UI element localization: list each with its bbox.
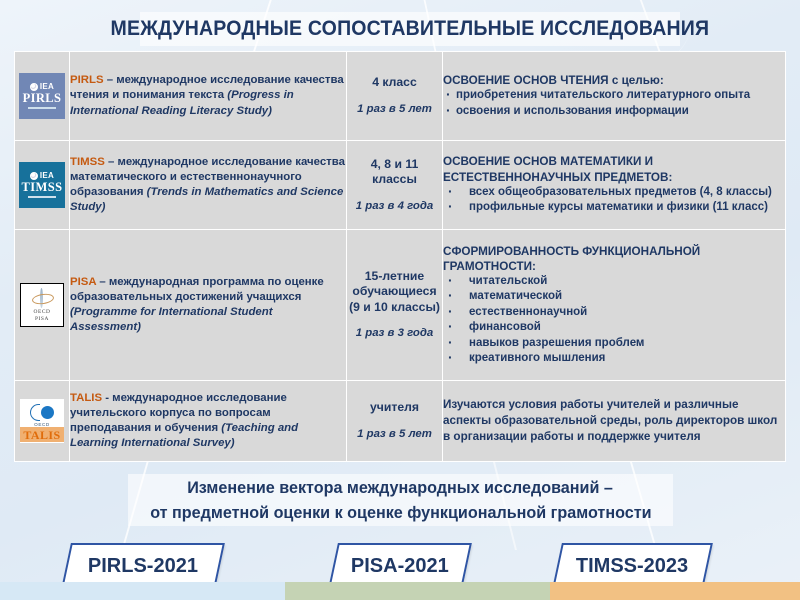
- talis-logo-icon: OECD TALIS: [20, 399, 64, 443]
- study-acronym: PIRLS: [70, 74, 104, 86]
- row-goal-cell: ОСВОЕНИЕ ОСНОВ МАТЕМАТИКИ И ЕСТЕСТВЕННОН…: [443, 141, 786, 230]
- bottom-colour-strip: [0, 582, 800, 600]
- study-description: PIRLS – международное исследование качес…: [70, 73, 346, 119]
- goal-list-item: навыков разрешения проблем: [443, 336, 785, 351]
- study-description-ru: – международное исследование качества чт…: [70, 74, 344, 101]
- chip-label: PISA-2021: [351, 555, 449, 578]
- study-description: TALIS - международное исследование учите…: [70, 391, 346, 452]
- logo-name: PIRLS: [23, 92, 62, 105]
- row-goal-cell: СФОРМИРОВАННОСТЬ ФУНКЦИОНАЛЬНОЙ ГРАМОТНО…: [443, 230, 786, 381]
- goal-list-item: профильные курсы математики и физики (11…: [443, 200, 785, 215]
- oecd-compass-icon: [32, 288, 52, 308]
- logo-name: TIMSS: [22, 181, 63, 194]
- conclusion-banner: Изменение вектора международных исследов…: [128, 474, 673, 526]
- study-acronym: TALIS: [70, 392, 102, 404]
- target-grade: 4, 8 и 11 классы: [347, 157, 442, 188]
- row-description-cell: PIRLS – международное исследование качес…: [70, 52, 347, 141]
- row-logo-cell: IEA PIRLS: [15, 52, 70, 141]
- logo-name: OECDPISA: [33, 309, 50, 321]
- row-goal-cell: Изучаются условия работы учителей и разл…: [443, 381, 786, 462]
- timss-logo-icon: IEA TIMSS: [19, 162, 65, 208]
- pirls-logo-icon: IEA PIRLS: [19, 73, 65, 119]
- study-description: TIMSS – международное исследование качес…: [70, 155, 346, 216]
- goal-list-item: естественнонаучной: [443, 305, 785, 320]
- strip-segment-green: [285, 582, 550, 600]
- studies-table-body: IEA PIRLS PIRLS – международное исследов…: [15, 52, 786, 462]
- iea-label: IEA: [40, 83, 54, 91]
- row-grade-cell: 4, 8 и 11 классы 1 раз в 4 года: [347, 141, 443, 230]
- row-description-cell: PISA – международная программа по оценке…: [70, 230, 347, 381]
- row-grade-cell: 4 класс 1 раз в 5 лет: [347, 52, 443, 141]
- study-description: PISA – международная программа по оценке…: [70, 275, 346, 336]
- table-row: IEA PIRLS PIRLS – международное исследов…: [15, 52, 786, 141]
- iea-mark: IEA: [30, 83, 54, 91]
- study-frequency: 1 раз в 3 года: [347, 326, 442, 341]
- iea-label: IEA: [40, 172, 54, 180]
- goal-list-item: освоения и использования информации: [443, 104, 785, 119]
- conclusion-line-2: от предметной оценки к оценке функционал…: [150, 500, 651, 525]
- strip-segment-orange: [550, 582, 800, 600]
- study-frequency: 1 раз в 5 лет: [347, 102, 442, 117]
- globe-icon: [30, 83, 38, 91]
- goal-heading: СФОРМИРОВАННОСТЬ ФУНКЦИОНАЛЬНОЙ ГРАМОТНО…: [443, 244, 785, 274]
- goal-list-item: математической: [443, 289, 785, 304]
- arc-icon: [30, 404, 40, 421]
- study-acronym: TIMSS: [70, 156, 105, 168]
- logo-rule: [28, 196, 56, 198]
- study-frequency: 1 раз в 4 года: [347, 199, 442, 214]
- studies-table: IEA PIRLS PIRLS – международное исследов…: [14, 51, 786, 462]
- table-row: OECD TALIS TALIS - международное исследо…: [15, 381, 786, 462]
- logo-rule: [28, 107, 56, 109]
- row-logo-cell: OECDPISA: [15, 230, 70, 381]
- row-grade-cell: 15-летние обучающиеся (9 и 10 классы) 1 …: [347, 230, 443, 381]
- row-description-cell: TIMSS – международное исследование качес…: [70, 141, 347, 230]
- goal-list-item: финансовой: [443, 320, 785, 335]
- logo-name: TALIS: [23, 429, 60, 441]
- slide-title: МЕЖДУНАРОДНЫЕ СОПОСТАВИТЕЛЬНЫЕ ИССЛЕДОВА…: [111, 17, 710, 41]
- row-logo-cell: IEA TIMSS: [15, 141, 70, 230]
- iea-mark: IEA: [30, 172, 54, 180]
- goal-list-item: всех общеобразовательных предметов (4, 8…: [443, 185, 785, 200]
- study-description-en: (Programme for International Student Ass…: [70, 306, 273, 333]
- strip-segment-blue: [0, 582, 285, 600]
- table-row: OECDPISA PISA – международная программа …: [15, 230, 786, 381]
- goal-text: Изучаются условия работы учителей и разл…: [443, 397, 785, 445]
- chip-label: TIMSS-2023: [576, 555, 688, 578]
- dot-icon: [41, 406, 54, 419]
- chip-label: PIRLS-2021: [88, 555, 198, 578]
- goal-list-item: креативного мышления: [443, 351, 785, 366]
- talis-band: TALIS: [20, 427, 64, 442]
- study-acronym: PISA: [70, 276, 96, 288]
- goal-list: приобретения читательского литературного…: [443, 88, 785, 119]
- globe-icon: [30, 172, 38, 180]
- target-grade: 4 класс: [347, 75, 442, 91]
- target-grade: 15-летние обучающиеся (9 и 10 классы): [347, 269, 442, 316]
- goal-list: читательскойматематическойестественнонау…: [443, 274, 785, 366]
- slide-title-band: МЕЖДУНАРОДНЫЕ СОПОСТАВИТЕЛЬНЫЕ ИССЛЕДОВА…: [140, 12, 680, 46]
- goal-heading: ОСВОЕНИЕ ОСНОВ МАТЕМАТИКИ И ЕСТЕСТВЕННОН…: [443, 154, 785, 184]
- row-grade-cell: учителя 1 раз в 5 лет: [347, 381, 443, 462]
- goal-heading: ОСВОЕНИЕ ОСНОВ ЧТЕНИЯ с целью:: [443, 73, 785, 88]
- goal-list-item: приобретения читательского литературного…: [443, 88, 785, 103]
- conclusion-line-1: Изменение вектора международных исследов…: [188, 475, 614, 500]
- table-row: IEA TIMSS TIMSS – международное исследов…: [15, 141, 786, 230]
- goal-list-item: читательской: [443, 274, 785, 289]
- target-grade: учителя: [347, 400, 442, 416]
- row-goal-cell: ОСВОЕНИЕ ОСНОВ ЧТЕНИЯ с целью: приобрете…: [443, 52, 786, 141]
- goal-list: всех общеобразовательных предметов (4, 8…: [443, 185, 785, 216]
- study-frequency: 1 раз в 5 лет: [347, 427, 442, 442]
- study-description-ru: – международная программа по оценке обра…: [70, 276, 324, 303]
- row-description-cell: TALIS - международное исследование учите…: [70, 381, 347, 462]
- pisa-logo-icon: OECDPISA: [20, 283, 64, 327]
- row-logo-cell: OECD TALIS: [15, 381, 70, 462]
